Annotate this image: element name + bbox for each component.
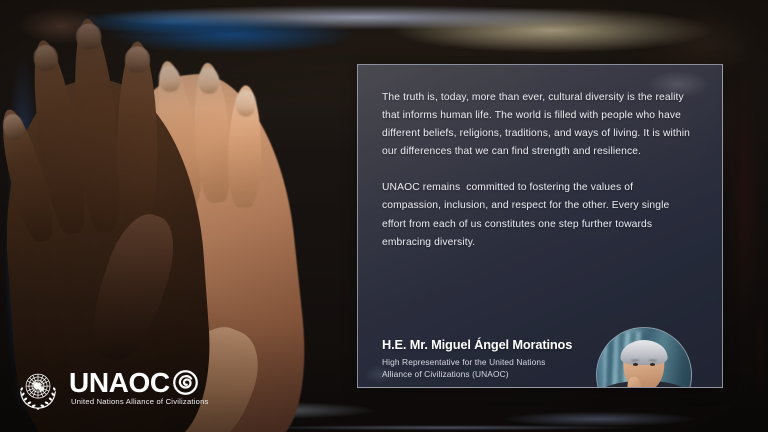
wordmark-row: UNAOC [69,370,209,396]
speaker-role-line-2: Alliance of Civilizations (UNAOC) [382,368,602,380]
portrait-eye-left [633,363,639,366]
speaker-portrait [596,327,692,388]
unaoc-wordmark: UNAOC [69,370,170,396]
quote-card: The truth is, today, more than ever, cul… [357,64,723,388]
unaoc-swirl-icon [173,370,198,395]
logo-tagline: United Nations Alliance of Civilizations [71,397,209,407]
portrait-eyebrow-right [649,359,657,362]
quote-paragraph-1: The truth is, today, more than ever, cul… [382,89,692,161]
quote-paragraph-2: UNAOC remains committed to fostering the… [382,179,692,251]
portrait-eye-right [650,363,656,366]
speaker-name: H.E. Mr. Miguel Ángel Moratinos [382,337,602,353]
attribution-block: H.E. Mr. Miguel Ángel Moratinos High Rep… [382,337,602,381]
speaker-role-line-1: High Representative for the United Natio… [382,356,602,368]
un-emblem-icon [14,364,62,412]
portrait-eyebrow-left [631,359,639,362]
logo-text-block: UNAOC United Nations Alliance of Civiliz… [69,370,209,407]
quote-body: The truth is, today, more than ever, cul… [382,89,692,252]
unaoc-logo: UNAOC United Nations Alliance of Civiliz… [14,364,209,412]
